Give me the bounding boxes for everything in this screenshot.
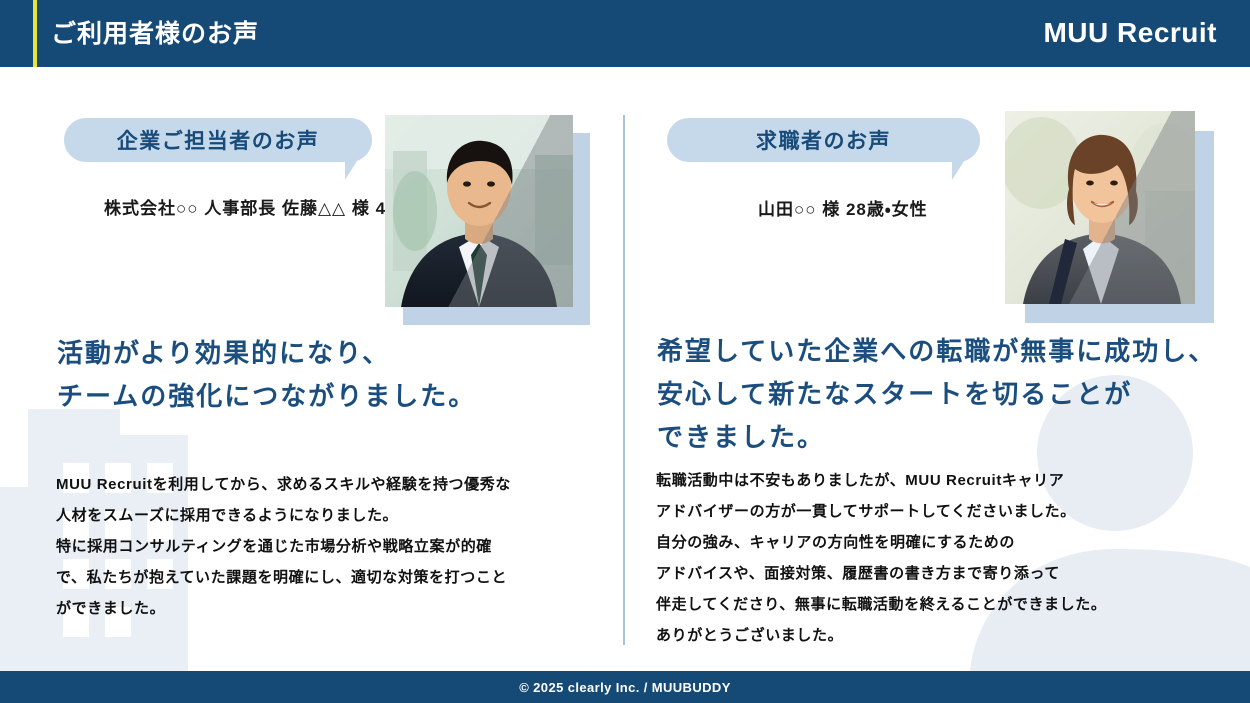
headline-company: 活動がより効果的になり、 チームの強化につながりました。 [57,332,597,418]
bubble-tail-company [345,158,359,180]
page-title: ご利用者様のお声 [51,18,259,50]
photo-frame-company [385,115,590,325]
body-jobseeker: 転職活動中は不安もありましたが、MUU Recruitキャリア アドバイザーの方… [656,465,1216,651]
brand-logo-text: MUU Recruit [1043,14,1217,52]
page-footer: © 2025 clearly Inc. / MUUBUDDY [0,671,1250,703]
photo-jobseeker [1005,111,1195,304]
photo-frame-jobseeker [1005,111,1214,323]
bubble-label-text: 求職者のお声 [756,125,891,155]
bubble-tail-jobseeker [952,158,966,180]
testimonial-card-company: 企業ご担当者のお声 株式会社○○ 人事部長 佐藤△△ 様 40代・男性 [0,67,623,671]
header-accent-bar [33,0,37,67]
bubble-label-company: 企業ご担当者のお声 [64,118,372,162]
testimonial-columns: 企業ご担当者のお声 株式会社○○ 人事部長 佐藤△△ 様 40代・男性 [0,67,1250,671]
headline-jobseeker: 希望していた企業への転職が無事に成功し、 安心して新たなスタートを切ることが で… [657,330,1217,459]
photo-jobseeker-overlay [1005,111,1195,304]
page-header: ご利用者様のお声 MUU Recruit [0,0,1250,67]
bubble-label-text: 企業ご担当者のお声 [117,125,320,155]
photo-company [385,115,573,307]
slide-root: ご利用者様のお声 MUU Recruit 企業ご担当者のお声 株式会社○○ 人事… [0,0,1250,703]
bubble-label-jobseeker: 求職者のお声 [667,118,980,162]
photo-company-overlay [385,115,573,307]
testimonial-card-jobseeker: 求職者のお声 山田○○ 様 28歳・女性 [625,67,1250,671]
person-meta-jobseeker: 山田○○ 様 28歳・女性 [758,194,928,225]
copyright-text: © 2025 clearly Inc. / MUUBUDDY [519,680,731,695]
body-company: MUU Recruitを利用してから、求めるスキルや経験を持つ優秀な 人材をスム… [56,469,601,624]
